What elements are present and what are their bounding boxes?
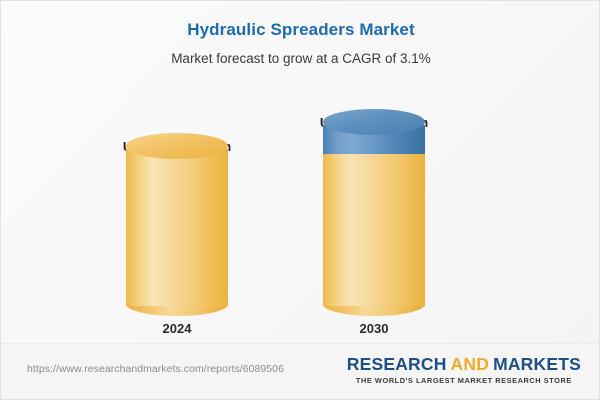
x-axis-label-2024: 2024 — [97, 321, 257, 336]
brand-tagline: THE WORLD'S LARGEST MARKET RESEARCH STOR… — [347, 376, 581, 385]
bar-cylinder-2030[interactable] — [323, 122, 425, 306]
chart-card: Hydraulic Spreaders Market Market foreca… — [0, 0, 600, 400]
footer: https://www.researchandmarkets.com/repor… — [1, 343, 600, 399]
bar-top-cap-2024 — [126, 133, 228, 159]
chart-plot-area: USD 409.6 Million 2024 USD 490.9 Million… — [1, 1, 600, 346]
bar-segment-base-2024 — [126, 149, 228, 306]
x-axis-label-2030: 2030 — [294, 321, 454, 336]
brand-word-research: RESEARCH — [347, 354, 447, 374]
bar-cylinder-2024[interactable] — [126, 146, 228, 306]
brand-word-and: AND — [451, 354, 490, 374]
bar-top-cap-2030 — [323, 109, 425, 135]
brand-logo[interactable]: RESEARCHANDMARKETS THE WORLD'S LARGEST M… — [347, 354, 581, 385]
brand-logo-wordmark: RESEARCHANDMARKETS — [347, 354, 581, 374]
report-url[interactable]: https://www.researchandmarkets.com/repor… — [27, 363, 284, 375]
brand-word-markets: MARKETS — [493, 354, 581, 374]
bar-segment-base-2030 — [323, 154, 425, 306]
